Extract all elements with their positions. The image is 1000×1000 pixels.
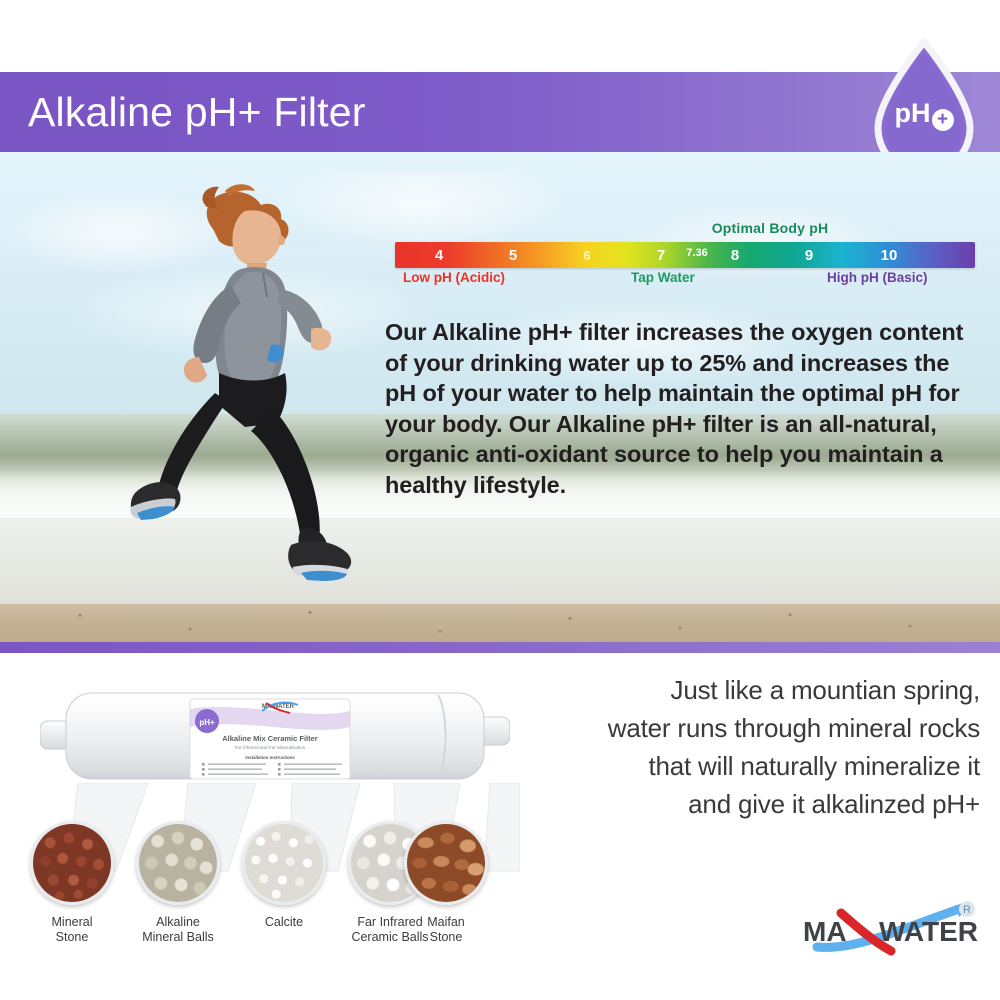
hero-paragraph: Our Alkaline pH+ filter increases the ox…: [385, 317, 985, 500]
svg-text:Installation Instructions: Installation Instructions: [245, 755, 295, 760]
max-water-logo: MA WATER R: [795, 893, 985, 965]
section-divider: [0, 642, 1000, 653]
ph-tick-736: 7.36: [680, 242, 714, 268]
filter-cartridge-image: pH+ MA WATER Alkaline Mix Ceramic Filter…: [40, 681, 510, 796]
bottom-section: pH+ MA WATER Alkaline Mix Ceramic Filter…: [0, 653, 1000, 1000]
mineral-label-line1: Calcite: [224, 915, 344, 930]
droplet-label: pH+: [866, 98, 982, 131]
caption-high-ph: High pH (Basic): [827, 270, 928, 285]
dry-sand: [0, 604, 1000, 642]
tagline-line-1: Just like a mountian spring,: [520, 671, 980, 709]
mineral-label-line1: Maifan: [386, 915, 506, 930]
logo-text-water: WATER: [879, 916, 978, 947]
mineral-label-line1: Mineral: [12, 915, 132, 930]
tagline-line-3: that will naturally mineralize it: [520, 747, 980, 785]
mineral-label-line2: Mineral Balls: [118, 930, 238, 945]
svg-text:pH+: pH+: [199, 718, 215, 727]
logo-text-ma: MA: [803, 916, 847, 947]
ph-tick-5: 5: [496, 242, 530, 268]
caption-tap-water: Tap Water: [631, 270, 695, 285]
ph-tick-10: 10: [872, 242, 906, 268]
caption-low-ph: Low pH (Acidic): [403, 270, 505, 285]
optimal-body-ph-label: Optimal Body pH: [395, 220, 975, 236]
mineral-bowl-alkaline-mineral-balls: [136, 821, 220, 905]
tagline-line-2: water runs through mineral rocks: [520, 709, 980, 747]
mineral-label-line2: Stone: [386, 930, 506, 945]
mineral-label-line2: Stone: [12, 930, 132, 945]
ph-tick-7: 7: [644, 242, 678, 268]
ph-tick-6: 6: [570, 242, 604, 268]
mineral-label-maifan-stone: Maifan Stone: [386, 915, 506, 945]
mineral-label-line1: Alkaline: [118, 915, 238, 930]
runner-photo: [95, 177, 395, 607]
mineral-label-alkaline-mineral-balls: Alkaline Mineral Balls: [118, 915, 238, 945]
hero-section: Optimal Body pH 4 5 6 7 7.36 8 9 10 Low …: [0, 152, 1000, 642]
ph-tick-8: 8: [718, 242, 752, 268]
mineral-label-mineral-stone: Mineral Stone: [12, 915, 132, 945]
infographic-page: Alkaline pH+ Filter pH+: [0, 0, 1000, 1000]
ph-tick-9: 9: [792, 242, 826, 268]
ph-tick-4: 4: [422, 242, 456, 268]
mineral-label-calcite: Calcite: [224, 915, 344, 930]
registered-mark: R: [963, 904, 971, 916]
mineral-bowl-calcite: [242, 821, 326, 905]
tagline: Just like a mountian spring, water runs …: [520, 671, 980, 823]
ph-captions: Low pH (Acidic) Tap Water High pH (Basic…: [395, 270, 975, 290]
plus-icon: +: [932, 109, 954, 131]
tagline-line-4: and give it alkalinzed pH+: [520, 785, 980, 823]
mineral-bowl-maifan-stone: [404, 821, 488, 905]
svg-text:Alkaline Mix Ceramic Filter: Alkaline Mix Ceramic Filter: [222, 734, 318, 743]
page-title: Alkaline pH+ Filter: [28, 84, 366, 140]
mineral-bowl-mineral-stone: [30, 821, 114, 905]
svg-text:Far Infrared and Far Mineraliz: Far Infrared and Far Mineralization: [235, 745, 306, 750]
